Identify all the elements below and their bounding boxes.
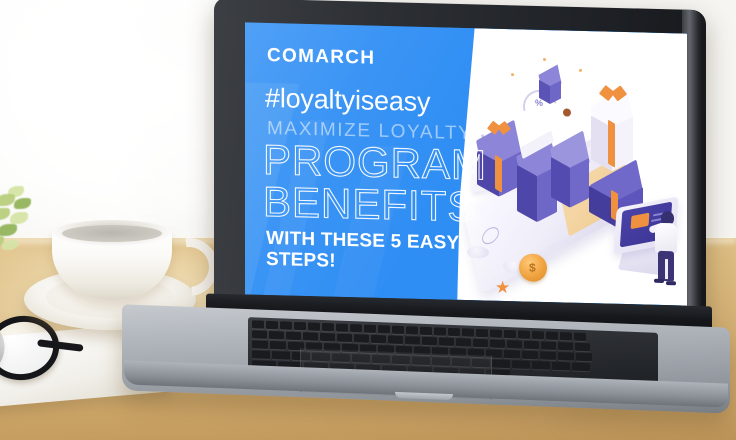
- keyboard-key[interactable]: [378, 325, 390, 333]
- keyboard-key[interactable]: [294, 322, 306, 330]
- screenshot-scene: %: [0, 0, 736, 440]
- star-icon: ★: [495, 279, 510, 296]
- keyboard-key[interactable]: [552, 362, 570, 371]
- keyboard-key[interactable]: [462, 328, 474, 336]
- keyboard-key[interactable]: [507, 340, 522, 349]
- plant: [0, 182, 58, 268]
- loyalty-illustration: %: [455, 38, 687, 306]
- keyboard-key[interactable]: [252, 340, 268, 349]
- keyboard-key[interactable]: [504, 350, 520, 359]
- keyboard-key[interactable]: [512, 360, 530, 369]
- person-shoe: [666, 281, 676, 285]
- keyboard-key[interactable]: [473, 339, 488, 348]
- person-shoe: [654, 279, 664, 283]
- cup-interior: [62, 225, 162, 242]
- keyboard-key[interactable]: [456, 338, 471, 347]
- brand-logo: COMARCH: [267, 45, 375, 70]
- keyboard-key[interactable]: [336, 324, 348, 332]
- keyboard-key[interactable]: [269, 331, 284, 340]
- keyboard-key[interactable]: [270, 341, 286, 350]
- person-torso: [655, 223, 677, 254]
- slide-cta-text: WITH THESE 5 EASY STEPS!: [266, 228, 476, 276]
- slide-hashtag: #loyaltyiseasy: [265, 83, 430, 118]
- keyboard-key[interactable]: [252, 330, 267, 339]
- sparkle: [543, 58, 546, 61]
- keyboard-key[interactable]: [364, 325, 376, 333]
- keyboard-key[interactable]: [560, 332, 572, 340]
- keyboard-key[interactable]: [350, 324, 362, 332]
- keyboard-key[interactable]: [406, 326, 418, 334]
- keyboard-key[interactable]: [439, 337, 454, 346]
- sparkle: [511, 73, 514, 76]
- keyboard-key[interactable]: [434, 327, 446, 335]
- keyboard-key[interactable]: [354, 334, 369, 343]
- keyboard-key[interactable]: [572, 363, 590, 372]
- decorative-dot: [563, 108, 571, 116]
- keyboard-key[interactable]: [576, 353, 592, 362]
- keyboard-key[interactable]: [532, 331, 544, 339]
- keyboard-key[interactable]: [337, 334, 352, 343]
- keyboard-key[interactable]: [522, 351, 538, 360]
- gold-coin-symbol: $: [529, 261, 536, 275]
- keyboard-key[interactable]: [320, 333, 335, 342]
- keyboard-key[interactable]: [546, 332, 558, 340]
- keyboard-key[interactable]: [574, 333, 586, 341]
- keyboard-key[interactable]: [476, 329, 488, 337]
- keyboard-key[interactable]: [286, 332, 301, 341]
- keyboard-key[interactable]: [540, 351, 556, 360]
- keyboard-key[interactable]: [420, 327, 432, 335]
- keyboard-key[interactable]: [252, 350, 270, 359]
- keyboard-key[interactable]: [252, 320, 264, 328]
- sparkle: [579, 69, 582, 72]
- keyboard-key[interactable]: [524, 341, 539, 350]
- keyboard-key[interactable]: [392, 326, 404, 334]
- laptop-screen[interactable]: %: [245, 22, 687, 305]
- keyboard-key[interactable]: [422, 337, 437, 346]
- keyboard-key[interactable]: [575, 343, 590, 352]
- keyboard-key[interactable]: [272, 351, 290, 360]
- marketing-slide: %: [245, 22, 687, 305]
- keyboard-key[interactable]: [558, 352, 574, 361]
- keyboard-key[interactable]: [448, 328, 460, 336]
- person-leg-gap: [665, 259, 668, 279]
- keyboard-key[interactable]: [303, 332, 318, 341]
- keyboard-key[interactable]: [388, 336, 403, 345]
- keyboard-key[interactable]: [266, 321, 278, 329]
- keyboard-key[interactable]: [541, 341, 556, 350]
- keyboard-key[interactable]: [280, 321, 292, 329]
- keyboard-key[interactable]: [371, 335, 386, 344]
- keyboard-key[interactable]: [504, 330, 516, 338]
- keyboard-key[interactable]: [518, 330, 530, 338]
- slide-headline-line-2: BENEFITS: [263, 181, 476, 228]
- keyboard-key[interactable]: [490, 339, 505, 348]
- keyboard-key[interactable]: [308, 322, 320, 330]
- keyboard-key[interactable]: [492, 359, 510, 368]
- keyboard-key[interactable]: [532, 361, 550, 370]
- keyboard-key[interactable]: [322, 323, 334, 331]
- keyboard-key[interactable]: [490, 329, 502, 337]
- keyboard-key[interactable]: [405, 336, 420, 345]
- keyboard-key[interactable]: [558, 342, 573, 351]
